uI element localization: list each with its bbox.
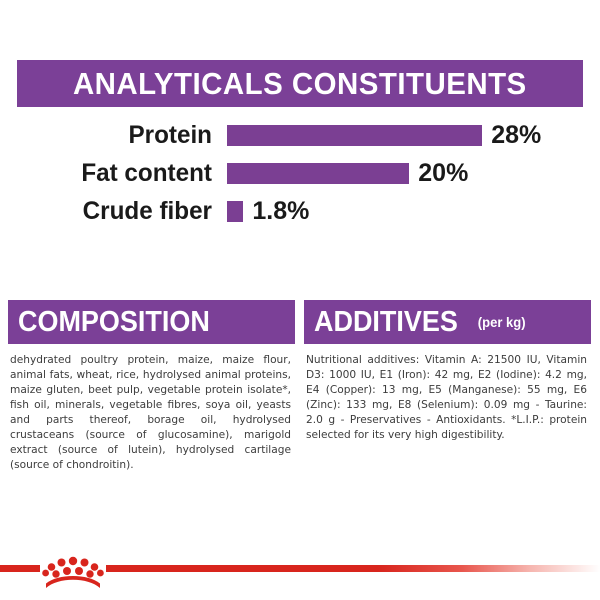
chart-bar-value: 28% (491, 123, 541, 148)
chart-bar-value: 20% (418, 161, 468, 186)
chart-row: Fat content 20% (17, 156, 583, 190)
additives-body: Nutritional additives: Vitamin A: 21500 … (304, 353, 591, 443)
chart-row-label: Fat content (23, 161, 212, 186)
additives-subtitle: (per kg) (477, 315, 525, 329)
royal-canin-crown-icon (42, 552, 104, 592)
chart-bar-wrap: 1.8% (227, 194, 583, 228)
analytical-constituents-header: ANALYTICALS CONSTITUENTS (17, 60, 583, 107)
footer (0, 552, 600, 600)
composition-body: dehydrated poultry protein, maize, maize… (8, 353, 295, 473)
composition-header: COMPOSITION (8, 300, 295, 344)
chart-row: Protein 28% (17, 118, 583, 152)
chart-bar-wrap: 20% (227, 156, 583, 190)
analytical-constituents-title: ANALYTICALS CONSTITUENTS (73, 68, 527, 99)
footer-rule-left (0, 565, 40, 572)
info-panels: COMPOSITION dehydrated poultry protein, … (8, 300, 592, 500)
chart-bar (227, 201, 243, 222)
footer-rule-right (106, 565, 600, 572)
chart-row-label: Protein (23, 123, 212, 148)
composition-title: COMPOSITION (18, 308, 210, 337)
chart-bar (227, 163, 409, 184)
composition-panel: COMPOSITION dehydrated poultry protein, … (8, 300, 295, 500)
additives-panel: ADDITIVES (per kg) Nutritional additives… (304, 300, 591, 500)
chart-bar (227, 125, 482, 146)
chart-row: Crude fiber 1.8% (17, 194, 583, 228)
additives-header: ADDITIVES (per kg) (304, 300, 591, 344)
chart-bar-wrap: 28% (227, 118, 583, 152)
additives-title: ADDITIVES (314, 308, 458, 337)
chart-bar-value: 1.8% (252, 199, 309, 224)
analytical-constituents-chart: Protein 28% Fat content 20% Crude fiber … (17, 118, 583, 230)
chart-row-label: Crude fiber (23, 199, 212, 224)
